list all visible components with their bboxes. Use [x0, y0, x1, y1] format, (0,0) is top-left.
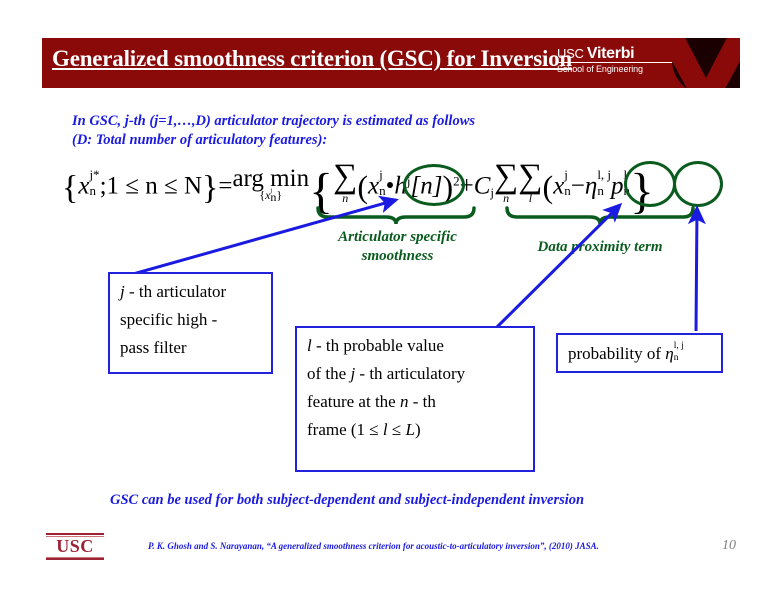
callout-pv-line-3-b: - th — [408, 392, 435, 411]
callout-probability: probability of ηl, jn — [556, 333, 723, 373]
eq-argmin-sub: n — [270, 195, 276, 201]
callout-pv-line-3-a: feature at the — [307, 392, 400, 411]
callout-probability-text: probability of — [568, 344, 665, 363]
eq-lhs-range: ;1 ≤ n ≤ N — [100, 173, 202, 200]
intro-text: In GSC, j-th (j=1,…,D) articulator traje… — [72, 112, 692, 150]
eq-lhs-sup: j* — [89, 169, 99, 181]
callout-pv-line-2-b: - th articulatory — [355, 364, 465, 383]
callout-pv-line-1-rest: - th probable value — [312, 336, 444, 355]
eq-eta-script: l, jn — [597, 169, 611, 194]
viterbi-school-name: Viterbi — [587, 45, 634, 62]
eq-p-var: p — [611, 173, 624, 200]
eq-sum-3: ∑l — [518, 162, 542, 204]
citation-text: P. K. Ghosh and S. Narayanan, “A general… — [148, 541, 599, 551]
callout-filter-line-1-rest: - th articulator — [125, 282, 227, 301]
title-bar: Generalized smoothness criterion (GSC) f… — [42, 38, 740, 88]
eq-term2-var: x — [553, 173, 564, 200]
eq-equals: = — [218, 173, 232, 200]
caption-smoothness: Articulator specific smoothness — [310, 228, 485, 266]
callout-filter-line-1: j - th articulator — [120, 278, 261, 306]
eq-sum-2-symbol: ∑ — [494, 162, 518, 193]
eq-sum-1: ∑n — [333, 162, 357, 204]
v-mark-icon — [654, 38, 740, 88]
page-number: 10 — [722, 538, 736, 554]
eq-term1-sub: n — [379, 185, 386, 197]
caption-proximity: Data proximity term — [505, 238, 695, 257]
callout-filter: j - th articulator specific high - pass … — [108, 272, 273, 374]
eq-eta-sub: n — [597, 185, 611, 197]
eq-minus: − — [571, 173, 585, 200]
eq-lhs-open-brace: { — [62, 170, 78, 207]
callout-pv-line-4-c: ) — [415, 420, 421, 439]
callout-pv-line-4: frame (1 ≤ l ≤ L) — [307, 416, 523, 444]
eq-term1-script: jn — [379, 169, 386, 194]
eq-term1-var: x — [368, 173, 379, 200]
bottom-note: GSC can be used for both subject-depende… — [110, 492, 584, 509]
usc-logo: USC — [46, 533, 104, 560]
usc-logo-word: USC — [46, 537, 104, 556]
intro-line-2: (D: Total number of articulatory feature… — [72, 131, 692, 150]
eq-term2-script: jn — [564, 169, 571, 194]
eq-lhs-script: j*n — [89, 169, 99, 194]
intro-line-1: In GSC, j-th (j=1,…,D) articulator traje… — [72, 112, 692, 131]
eq-sum-1-symbol: ∑ — [333, 162, 357, 193]
callout-probability-sup: l, j — [674, 342, 684, 351]
callout-probability-var: η — [665, 344, 673, 363]
eq-term1-sup: j — [379, 169, 386, 181]
caption-smoothness-line-2: smoothness — [310, 247, 485, 266]
callout-pv-var-L: L — [405, 420, 414, 439]
eq-lhs-close-brace: } — [202, 170, 218, 207]
eq-sum-3-symbol: ∑ — [518, 162, 542, 193]
highlight-ellipse-eta — [624, 161, 676, 207]
eq-term2-open-paren: ( — [543, 169, 554, 205]
eq-term2-sup: j — [564, 169, 571, 181]
callout-pv-line-4-b: ≤ — [388, 420, 406, 439]
callout-pv-line-2: of the j - th articulatory — [307, 360, 523, 388]
callout-filter-line-2: specific high - — [120, 306, 261, 334]
callout-probability-sub: n — [674, 354, 684, 363]
slide-canvas: Generalized smoothness criterion (GSC) f… — [0, 0, 776, 600]
eq-eta-sup: l, j — [597, 169, 611, 181]
eq-sum-2: ∑n — [494, 162, 518, 204]
underbrace-smoothness — [316, 206, 476, 226]
highlight-ellipse-filter — [403, 164, 465, 206]
callout-pv-line-1: l - th probable value — [307, 332, 523, 360]
callout-probability-script: l, jn — [674, 342, 684, 360]
viterbi-usc-label: USC — [557, 46, 584, 61]
underbrace-proximity — [505, 206, 695, 226]
eq-eta-var: η — [585, 173, 597, 200]
eq-lhs-sub: n — [89, 185, 99, 197]
arrow-probability-callout — [696, 208, 697, 331]
eq-coef-var: C — [474, 173, 491, 200]
callout-filter-line-3: pass filter — [120, 334, 261, 362]
callout-pv-line-4-a: frame (1 ≤ — [307, 420, 383, 439]
usc-logo-rule-top — [46, 533, 104, 535]
eq-lhs-var: x — [78, 173, 89, 200]
callout-pv-line-3: feature at the n - th — [307, 388, 523, 416]
caption-smoothness-line-1: Articulator specific — [310, 228, 485, 247]
eq-argmin: arg min{xjn} — [232, 166, 309, 201]
usc-logo-rule-bottom — [46, 558, 104, 560]
callout-probable-value: l - th probable value of the j - th arti… — [295, 326, 535, 472]
eq-term1-open-paren: ( — [357, 169, 368, 205]
page-title: Generalized smoothness criterion (GSC) f… — [52, 46, 572, 72]
callout-pv-line-2-a: of the — [307, 364, 350, 383]
eq-term2-sub: n — [564, 185, 571, 197]
eq-argmin-close: } — [276, 188, 282, 202]
eq-argmin-script: jn — [270, 188, 276, 198]
highlight-ellipse-probability — [673, 161, 723, 207]
